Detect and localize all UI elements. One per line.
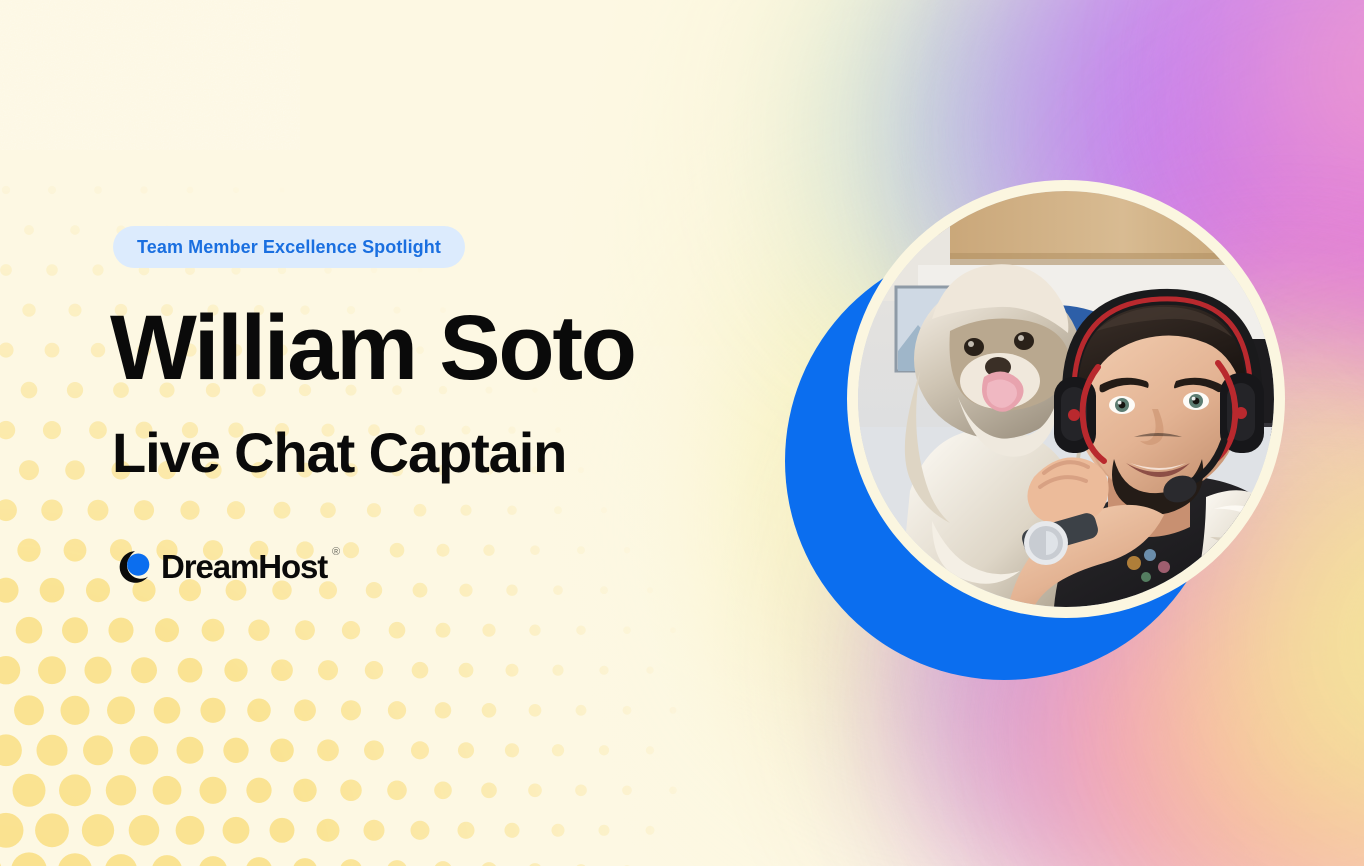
brand-name-text: DreamHost [161, 548, 327, 585]
dreamhost-logo: DreamHost ® [118, 548, 327, 586]
text-content: Team Member Excellence Spotlight William… [0, 0, 760, 866]
portrait-cluster [785, 180, 1285, 680]
person-role: Live Chat Captain [112, 422, 566, 484]
trademark-symbol: ® [332, 546, 340, 558]
profile-photo [858, 191, 1274, 607]
profile-photo-illustration [858, 191, 1274, 607]
cream-photo-ring [847, 180, 1285, 618]
spotlight-badge: Team Member Excellence Spotlight [113, 226, 465, 268]
spotlight-banner: Team Member Excellence Spotlight William… [0, 0, 1364, 866]
dreamhost-wordmark: DreamHost ® [161, 548, 327, 586]
dreamhost-crescent-logo-icon [118, 550, 152, 584]
person-name: William Soto [110, 300, 635, 397]
